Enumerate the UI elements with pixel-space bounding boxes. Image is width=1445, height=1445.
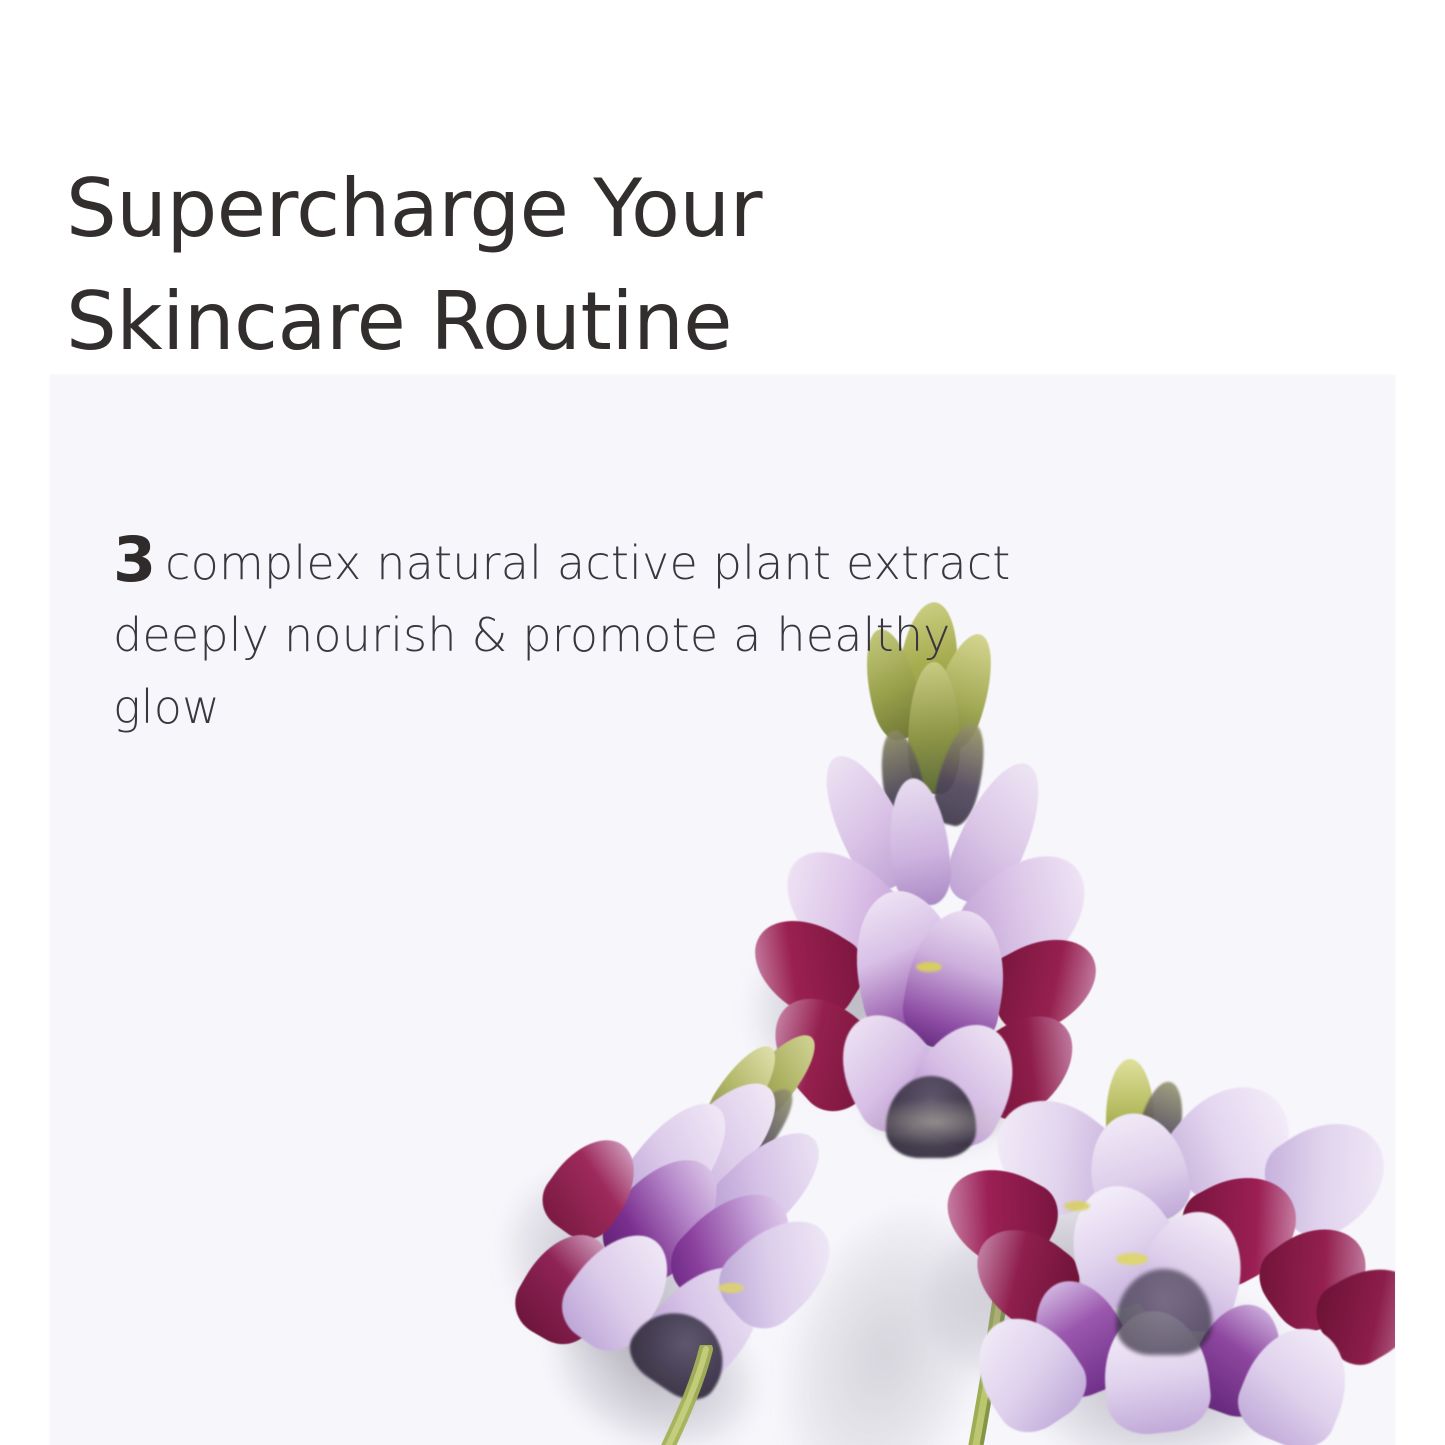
flower-core-shade xyxy=(1116,1269,1212,1355)
bud-tip xyxy=(1106,1059,1154,1155)
petal xyxy=(936,751,1057,915)
petal xyxy=(808,744,926,899)
petal xyxy=(588,1138,740,1296)
petal xyxy=(548,1215,689,1364)
stem-shadow xyxy=(748,1183,1021,1445)
petal xyxy=(1169,1157,1315,1298)
flower-stem xyxy=(890,1115,1080,1445)
petal xyxy=(1250,1100,1395,1252)
bloom-shadow xyxy=(530,1261,781,1445)
petal xyxy=(894,1007,1034,1159)
petal xyxy=(1128,1200,1257,1341)
petal xyxy=(655,1065,795,1210)
highlight-count: 3 xyxy=(113,523,156,596)
petal xyxy=(737,900,878,1032)
bloom-shadow xyxy=(848,992,1063,1168)
petal xyxy=(705,1200,850,1343)
petal xyxy=(956,1298,1099,1445)
petal xyxy=(1179,1292,1296,1426)
petal xyxy=(696,1114,838,1255)
petal xyxy=(958,1209,1093,1341)
stamen xyxy=(1064,1201,1090,1211)
bloom-shadow xyxy=(470,1127,780,1412)
petal xyxy=(1304,1250,1395,1376)
diagonal-bloom xyxy=(510,1015,870,1445)
petal xyxy=(1017,1267,1142,1408)
promo-card: 3complex natural active plant extract de… xyxy=(50,375,1395,1445)
petal xyxy=(606,1085,746,1236)
stamen xyxy=(916,962,942,972)
calyx-hairs xyxy=(860,1098,1010,1146)
petal xyxy=(1246,1208,1386,1345)
petal xyxy=(631,1245,782,1399)
petal xyxy=(1228,1313,1365,1445)
bloom-shadow xyxy=(1019,1277,1310,1445)
bud-tip xyxy=(728,1023,829,1131)
bloom-shadow xyxy=(722,874,994,1130)
bloom-shadow xyxy=(900,1152,1239,1419)
bud-tip xyxy=(698,1036,789,1142)
promo-page: Supercharge Your Skincare Routine xyxy=(0,0,1445,1445)
calyx xyxy=(619,1295,741,1412)
calyx xyxy=(886,1076,976,1158)
petal xyxy=(842,881,975,1049)
petal xyxy=(503,1218,630,1356)
petal xyxy=(883,775,954,908)
stamen xyxy=(1116,1253,1148,1265)
stamen xyxy=(718,1283,744,1293)
petal xyxy=(656,1171,812,1328)
petal xyxy=(1151,1062,1315,1228)
petal xyxy=(953,995,1094,1134)
petal xyxy=(930,1150,1070,1283)
petal xyxy=(976,920,1113,1046)
stamen xyxy=(940,1040,970,1052)
cluster-bloom xyxy=(940,1065,1395,1445)
stem-svg xyxy=(890,1115,1080,1445)
diagonal-stem-svg xyxy=(610,1345,810,1445)
petal xyxy=(1056,1172,1192,1318)
page-title: Supercharge Your Skincare Routine xyxy=(66,152,1166,378)
petal xyxy=(942,831,1109,997)
promo-copy: 3complex natural active plant extract de… xyxy=(113,524,1013,743)
petal xyxy=(897,903,1016,1058)
petal xyxy=(822,997,959,1144)
petal xyxy=(1098,1306,1214,1438)
petal xyxy=(752,976,899,1125)
promo-copy-text: complex natural active plant extract dee… xyxy=(113,536,1011,734)
bud-shade xyxy=(718,1079,805,1175)
bud-shade xyxy=(1132,1078,1191,1171)
petal xyxy=(974,1076,1129,1229)
petal xyxy=(1079,1104,1196,1234)
petal xyxy=(764,828,920,983)
petal xyxy=(531,1123,654,1252)
